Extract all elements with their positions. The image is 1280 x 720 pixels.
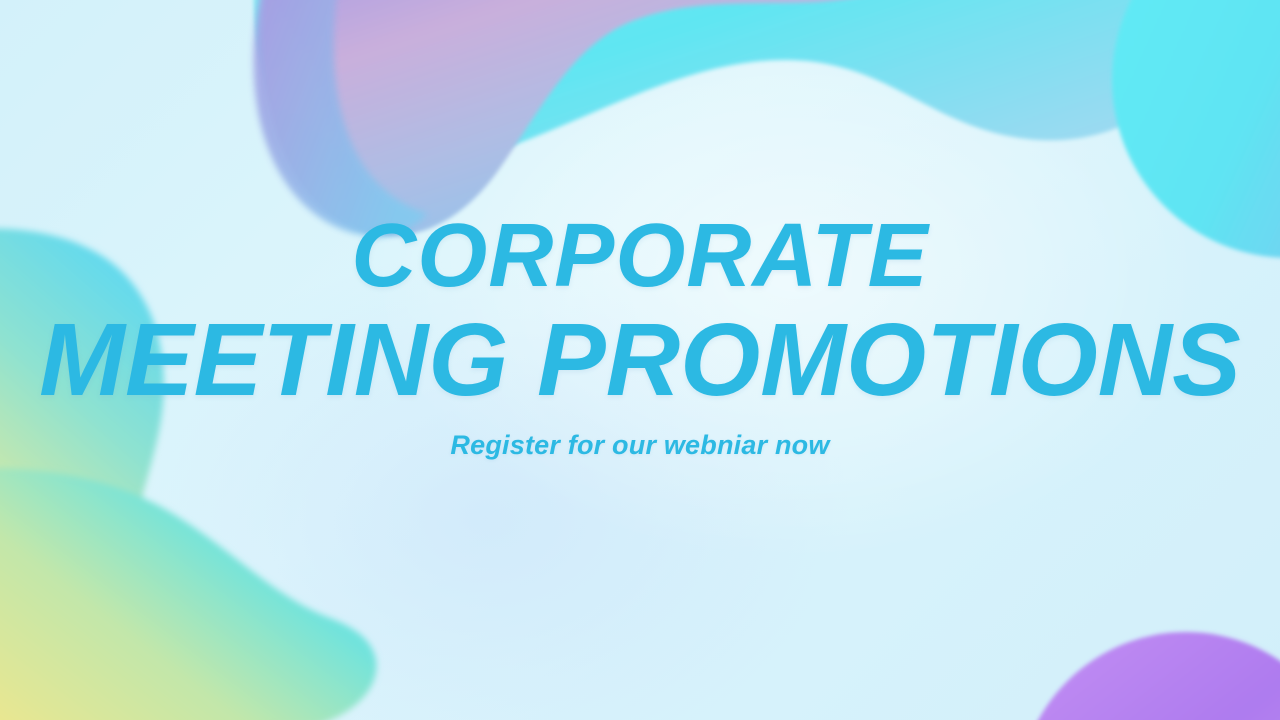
subtitle-call-to-action: Register for our webniar now — [450, 430, 829, 461]
headline-line-1: CORPORATE — [39, 211, 1241, 303]
page-title: CORPORATE MEETING PROMOTIONS — [39, 211, 1241, 412]
promo-poster: CORPORATE MEETING PROMOTIONS Register fo… — [0, 0, 1280, 720]
poster-content: CORPORATE MEETING PROMOTIONS Register fo… — [0, 0, 1280, 720]
headline-line-2: MEETING PROMOTIONS — [39, 307, 1241, 412]
